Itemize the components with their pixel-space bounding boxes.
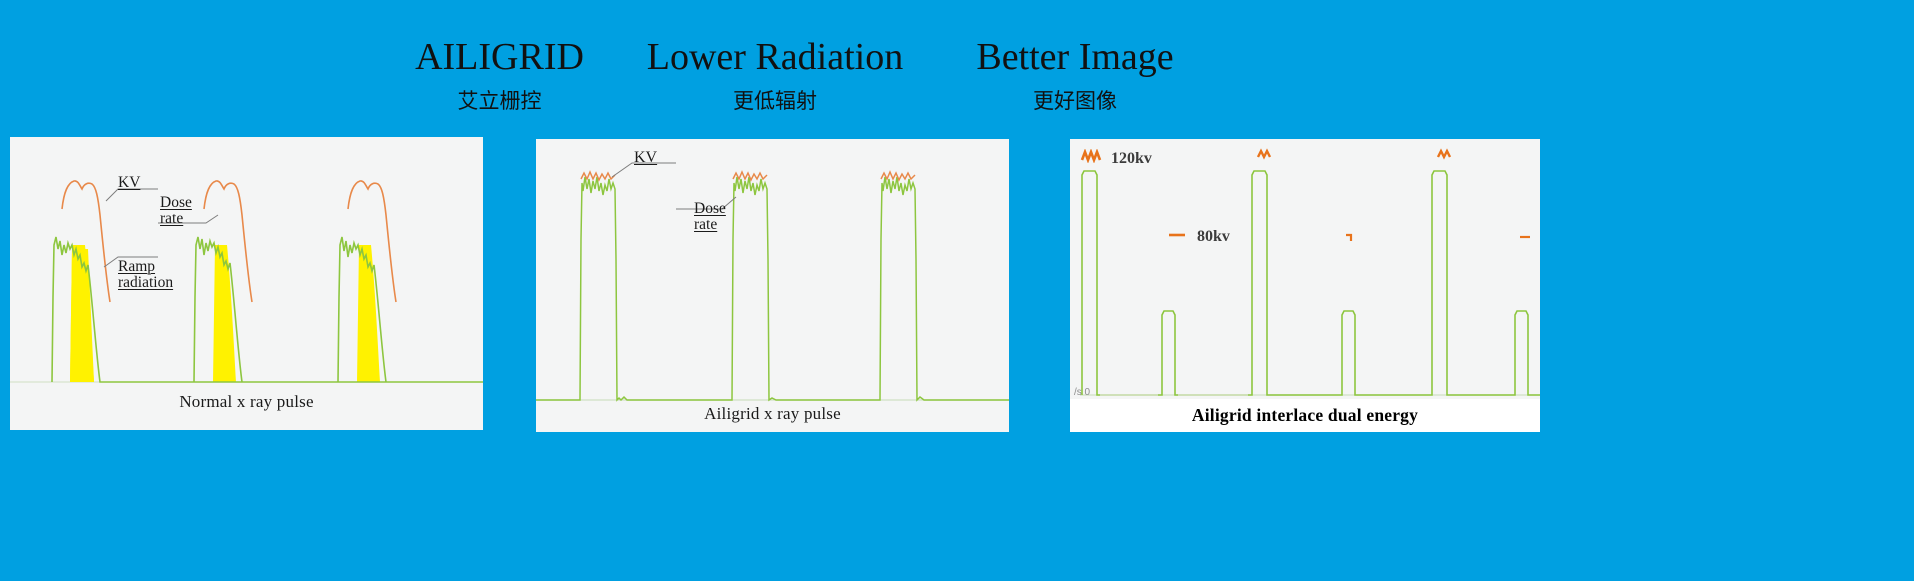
ramp-radiation-label-panel1: Ramp radiation <box>118 259 173 291</box>
header-group-lower-radiation: Lower Radiation 更低辐射 <box>630 34 920 116</box>
dose-rate-label-panel2: Dose rate <box>694 201 726 233</box>
slide-canvas: AILIGRID 艾立栅控 Lower Radiation 更低辐射 Bette… <box>0 0 1914 581</box>
legend-120kv-label: 120kv <box>1111 150 1152 168</box>
dose-rate-trace <box>52 237 483 382</box>
legend-120kv: 120kv <box>1080 149 1152 168</box>
plot-ailigrid-interlace-dual-energy <box>1070 139 1540 432</box>
kv-label-panel1: KV <box>118 175 140 191</box>
header-title-cn-2: 更好图像 <box>930 86 1220 116</box>
header-title-en-2: Better Image <box>930 34 1220 80</box>
caption-normal-x-ray-pulse: Normal x ray pulse <box>10 392 483 412</box>
dose-rate-label-panel1: Dose rate <box>160 195 192 227</box>
kv-label-panel2: KV <box>634 149 657 167</box>
dose-rate-trace <box>536 177 1009 400</box>
plot-normal-x-ray-pulse <box>10 137 483 430</box>
header-group-ailigrid: AILIGRID 艾立栅控 <box>382 34 617 116</box>
orange-dash-icon <box>1166 227 1188 246</box>
header-title-cn-0: 艾立栅控 <box>382 86 617 116</box>
kv-markers-80kv <box>1346 235 1530 241</box>
header-title-cn-1: 更低辐射 <box>630 86 920 116</box>
caption-ailigrid-x-ray-pulse: Ailigrid x ray pulse <box>536 404 1009 424</box>
chart-panel-ailigrid-x-ray-pulse: KV Dose rate Ailigrid x ray pulse <box>536 139 1009 432</box>
dual-energy-trace <box>1080 171 1540 395</box>
chart-panel-normal-x-ray-pulse: KV Dose rate Ramp radiation Normal x ray… <box>10 137 483 430</box>
ramp-radiation-fills <box>70 245 380 382</box>
legend-80kv: 80kv <box>1166 227 1230 246</box>
kv-markers-120kv <box>1258 151 1450 157</box>
legend-80kv-label: 80kv <box>1197 228 1230 246</box>
orange-zigzag-icon <box>1080 149 1102 168</box>
header-title-en-1: Lower Radiation <box>630 34 920 80</box>
header-group-better-image: Better Image 更好图像 <box>930 34 1220 116</box>
plot-ailigrid-x-ray-pulse <box>536 139 1009 432</box>
axis-origin-label: /s 0 <box>1074 387 1090 398</box>
caption-ailigrid-interlace-dual-energy: Ailigrid interlace dual energy <box>1070 399 1540 432</box>
chart-panel-ailigrid-interlace-dual-energy: 120kv 80kv /s 0 Ailigrid interlace dual … <box>1070 139 1540 432</box>
header: AILIGRID 艾立栅控 Lower Radiation 更低辐射 Bette… <box>0 20 1914 120</box>
header-title-en-0: AILIGRID <box>382 34 617 80</box>
